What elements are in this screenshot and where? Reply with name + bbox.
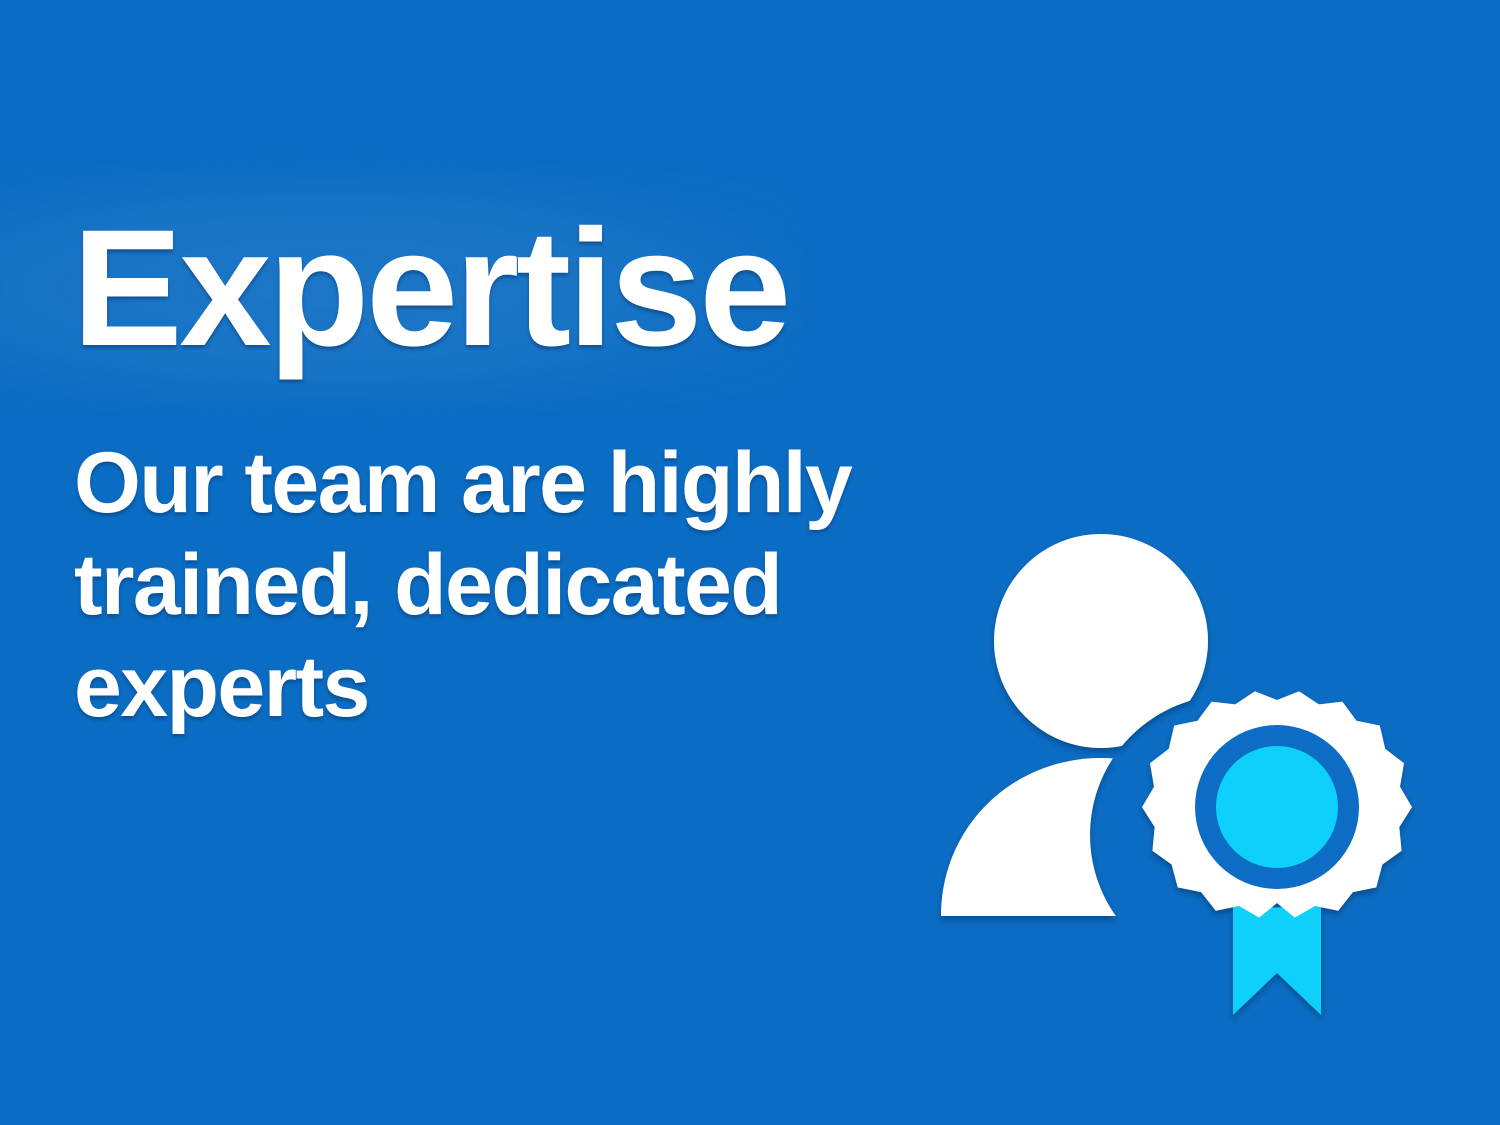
subtitle-line-2: trained, dedicated: [74, 534, 934, 636]
award-badge-group: [1142, 691, 1412, 1015]
subtitle-line-1: Our team are highly: [74, 432, 934, 534]
page-title: Expertise: [72, 206, 788, 372]
person-head: [994, 534, 1208, 748]
rosette-center: [1216, 746, 1338, 868]
subtitle-line-3: experts: [74, 636, 934, 738]
slide-canvas: Expertise Our team are highly trained, d…: [0, 0, 1500, 1125]
expert-person-award-icon: [905, 510, 1445, 1050]
subtitle: Our team are highly trained, dedicated e…: [74, 432, 934, 738]
